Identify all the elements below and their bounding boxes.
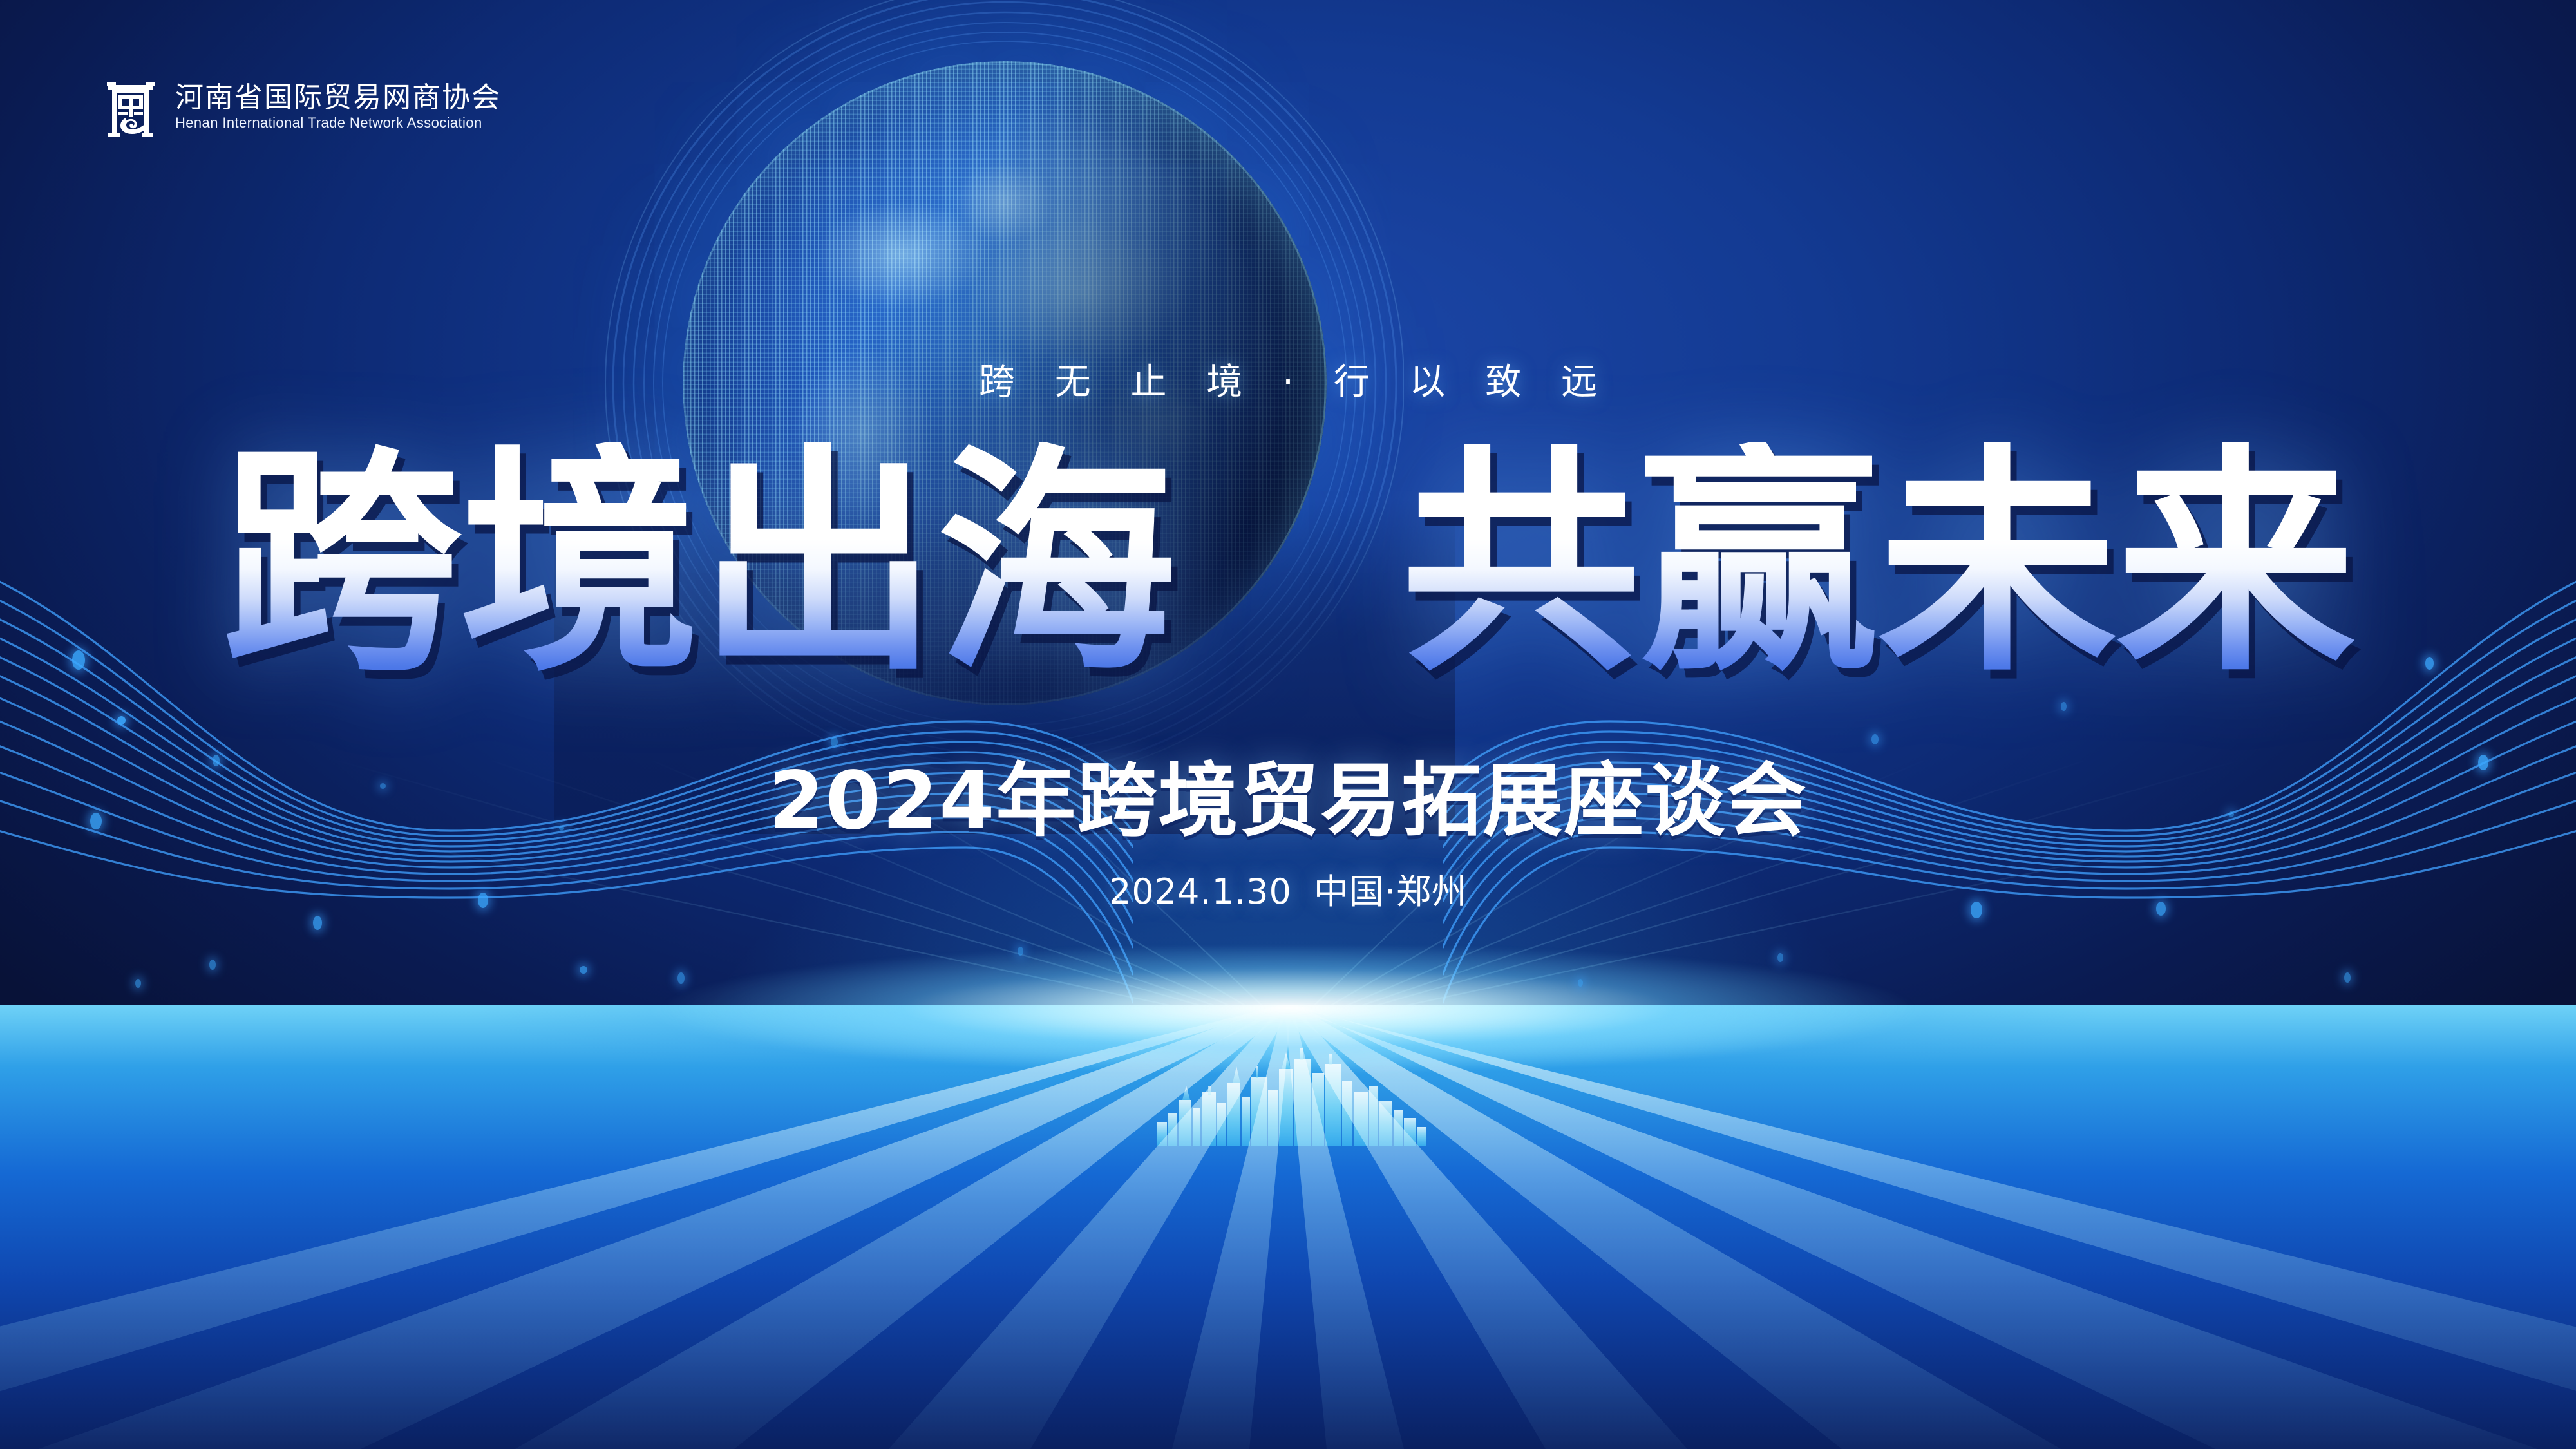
logo-text-block: 河南省国际贸易网商协会 Henan International Trade Ne… [175,83,501,131]
logo-english-name: Henan International Trade Network Associ… [175,115,501,131]
event-tagline: 跨 无 止 境 · 行 以 致 远 [0,353,2576,405]
event-subtitle: 2024年跨境贸易拓展座谈会 [0,735,2576,851]
event-date-location: 2024.1.30中国·郑州 [0,863,2576,914]
association-logo[interactable]: 河南省国际贸易网商协会 Henan International Trade Ne… [103,76,501,138]
event-location: 中国·郑州 [1314,871,1467,912]
banner-canvas: 河南省国际贸易网商协会 Henan International Trade Ne… [0,0,2576,1449]
headline-part-1: 跨境出海 [222,442,1175,686]
headline-part-2: 共赢未来 [1401,442,2354,686]
city-skyline [1153,1030,1436,1146]
logo-chinese-name: 河南省国际贸易网商协会 [175,83,501,113]
event-date: 2024.1.30 [1109,871,1292,912]
henan-seal-emblem-icon [103,76,158,138]
event-headline: 跨境出海 共赢未来 [0,442,2576,686]
